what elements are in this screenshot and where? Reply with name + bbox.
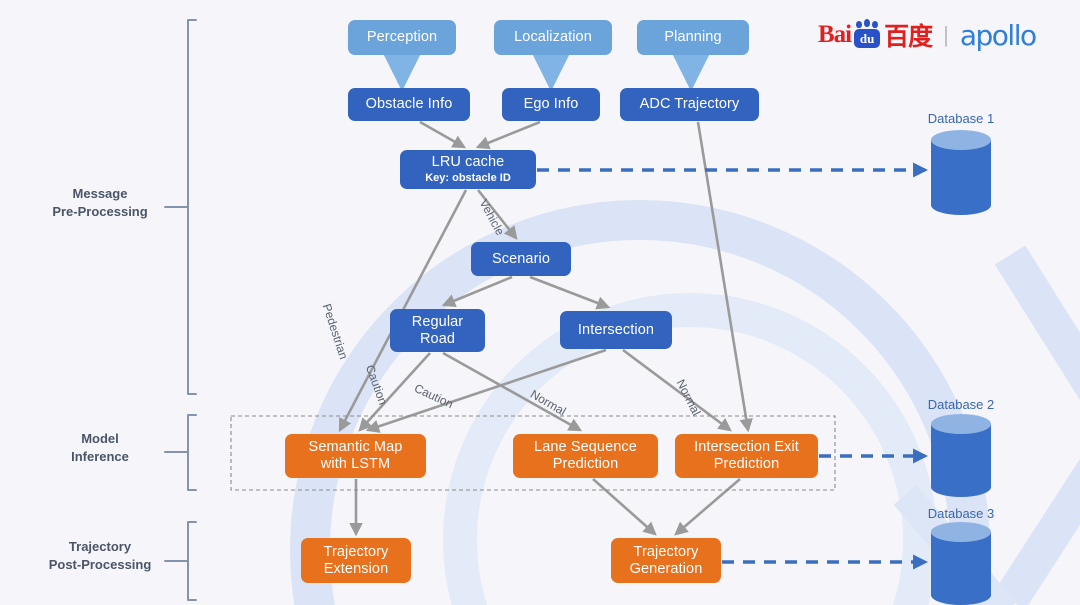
node-adc-trajectory[interactable]: ADC Trajectory bbox=[620, 88, 759, 121]
node-label: LRU cache bbox=[432, 154, 505, 171]
node-label: Regular Road bbox=[412, 314, 463, 347]
edge-obstacle-to-lru bbox=[420, 122, 464, 147]
edge-label-caution-1: Caution bbox=[363, 363, 390, 407]
database-2-cylinder bbox=[931, 414, 991, 497]
baidu-paw-icon: du bbox=[852, 21, 882, 49]
edge-scenario-to-regular-road bbox=[444, 277, 512, 305]
edge-scenario-to-intersection bbox=[530, 277, 608, 307]
node-trajectory-extension[interactable]: Trajectory Extension bbox=[301, 538, 411, 583]
database-3-label: Database 3 bbox=[901, 506, 1021, 521]
bracket-model-inference bbox=[188, 415, 196, 490]
node-semantic-map-with-lstm[interactable]: Semantic Map with LSTM bbox=[285, 434, 426, 478]
database-2-label: Database 2 bbox=[901, 397, 1021, 412]
node-label: Localization bbox=[514, 29, 592, 46]
node-label: Intersection Exit Prediction bbox=[694, 439, 799, 472]
baidu-latin-text: Bai bbox=[818, 21, 851, 49]
bracket-trajectory-post-processing bbox=[188, 522, 196, 600]
edge-intersection-exit-to-trajectory-generation bbox=[676, 479, 740, 534]
section-label-message-pre-processing: Message Pre-Processing bbox=[40, 185, 160, 220]
node-label: Perception bbox=[367, 29, 437, 46]
node-lru-cache[interactable]: LRU cache Key: obstacle ID bbox=[400, 150, 536, 189]
node-label: Scenario bbox=[492, 251, 550, 268]
section-label-trajectory-post-processing: Trajectory Post-Processing bbox=[34, 538, 166, 573]
database-3-cylinder bbox=[931, 522, 991, 605]
database-connectors bbox=[537, 170, 925, 562]
database-cylinders bbox=[931, 130, 991, 605]
baidu-apollo-logo: Bai du 百度 | apollo bbox=[818, 20, 1036, 50]
edge-lane-sequence-to-trajectory-generation bbox=[593, 479, 655, 534]
node-scenario[interactable]: Scenario bbox=[471, 242, 571, 276]
node-label: Obstacle Info bbox=[366, 96, 453, 113]
baidu-chinese-text: 百度 bbox=[884, 17, 932, 53]
database-1-label: Database 1 bbox=[901, 111, 1021, 126]
edge-intersection-to-semantic-map bbox=[368, 350, 606, 430]
baidu-du-text: du bbox=[854, 29, 880, 48]
node-planning[interactable]: Planning bbox=[637, 20, 749, 55]
node-trajectory-generation[interactable]: Trajectory Generation bbox=[611, 538, 721, 583]
node-label: Lane Sequence Prediction bbox=[534, 439, 637, 472]
bracket-message-pre-processing bbox=[188, 20, 196, 394]
node-lane-sequence-prediction[interactable]: Lane Sequence Prediction bbox=[513, 434, 658, 478]
node-label: ADC Trajectory bbox=[640, 96, 740, 113]
node-obstacle-info[interactable]: Obstacle Info bbox=[348, 88, 470, 121]
node-label: Trajectory Generation bbox=[630, 544, 703, 577]
edge-label-normal-1: Normal bbox=[528, 387, 568, 418]
edge-label-vehicle: Vehicle bbox=[477, 197, 508, 238]
node-regular-road[interactable]: Regular Road bbox=[390, 309, 485, 352]
diagram-canvas: Message Pre-Processing Model Inference T… bbox=[0, 0, 1080, 605]
edge-label-caution-2: Caution bbox=[412, 381, 455, 411]
node-ego-info[interactable]: Ego Info bbox=[502, 88, 600, 121]
node-label: Planning bbox=[664, 29, 721, 46]
node-label: Semantic Map with LSTM bbox=[309, 439, 403, 472]
edge-label-pedestrian: Pedestrian bbox=[320, 302, 351, 361]
edge-ego-to-lru bbox=[478, 122, 540, 147]
edge-adc-to-intersection-exit bbox=[698, 122, 748, 430]
node-label: Ego Info bbox=[524, 96, 579, 113]
node-intersection[interactable]: Intersection bbox=[560, 311, 672, 349]
edge-regular-road-to-lane-sequence bbox=[443, 353, 580, 430]
database-1-cylinder bbox=[931, 130, 991, 215]
apollo-wordmark: apollo bbox=[960, 19, 1036, 52]
edge-label-normal-2: Normal bbox=[674, 377, 704, 418]
node-label: Trajectory Extension bbox=[324, 544, 389, 577]
node-localization[interactable]: Localization bbox=[494, 20, 612, 55]
node-perception[interactable]: Perception bbox=[348, 20, 456, 55]
logo-separator: | bbox=[943, 22, 949, 48]
module-to-message-arrows bbox=[402, 57, 691, 83]
section-brackets bbox=[165, 20, 196, 600]
node-sublabel: Key: obstacle ID bbox=[425, 172, 511, 185]
node-intersection-exit-prediction[interactable]: Intersection Exit Prediction bbox=[675, 434, 818, 478]
section-label-model-inference: Model Inference bbox=[40, 430, 160, 465]
node-label: Intersection bbox=[578, 322, 654, 339]
